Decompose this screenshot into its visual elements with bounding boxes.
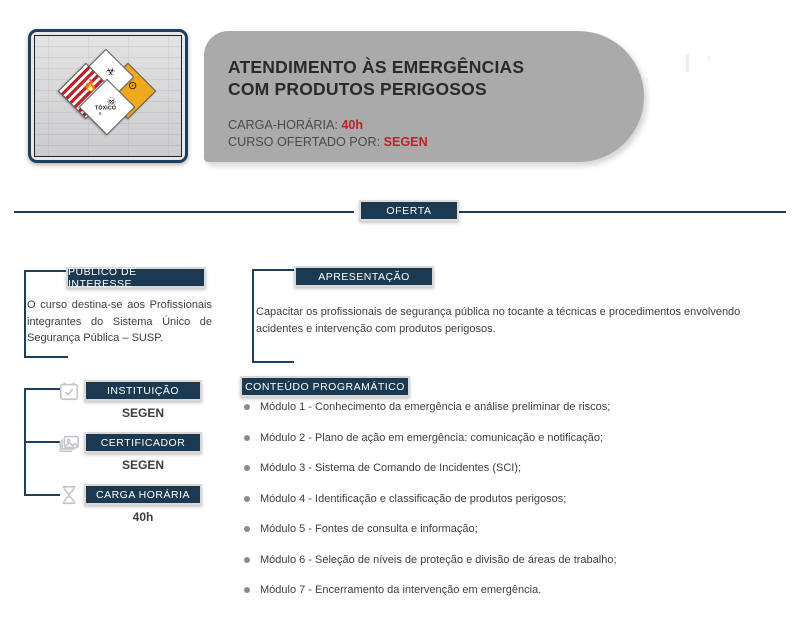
presentation-bracket: [252, 269, 254, 363]
certifier-badge: CERTIFICADOR: [84, 432, 202, 453]
calendar-check-icon: [58, 380, 80, 402]
list-item: Módulo 7 - Encerramento da intervenção e…: [240, 583, 760, 597]
list-item: Módulo 4 - Identificação e classificação…: [240, 492, 760, 506]
certifier-value: SEGEN: [84, 458, 202, 472]
public-bracket-arm-bottom: [24, 356, 68, 358]
course-photo: ☣ ⊙ 🔥 ☠ TÓXICO 6: [28, 29, 188, 163]
public-bracket: [24, 270, 26, 358]
presentation-badge: APRESENTAÇÃO: [294, 266, 434, 287]
hero-panel: ATENDIMENTO ÀS EMERGÊNCIAS COM PRODUTOS …: [204, 31, 644, 162]
hero-meta: CARGA-HORÁRIA: 40h CURSO OFERTADO POR: S…: [228, 117, 428, 151]
list-item: Módulo 1 - Conhecimento da emergência e …: [240, 400, 760, 414]
workload-badge: CARGA HORÁRIA: [84, 484, 202, 505]
hazmat-placards: ☣ ⊙ 🔥 ☠ TÓXICO 6: [60, 57, 156, 135]
syllabus-badge: CONTEÚDO PROGRAMÁTICO: [240, 376, 410, 397]
offered-by-line: CURSO OFERTADO POR: SEGEN: [228, 134, 428, 151]
list-item: Módulo 6 - Seleção de níveis de proteção…: [240, 553, 760, 567]
offered-by-label: CURSO OFERTADO POR:: [228, 135, 380, 149]
list-item: Módulo 3 - Sistema de Comando de Inciden…: [240, 461, 760, 475]
presentation-bracket-arm-bottom: [252, 361, 294, 363]
list-item: Módulo 5 - Fontes de consulta e informaç…: [240, 522, 760, 536]
public-interest-text: O curso destina-se aos Profissionais int…: [27, 297, 212, 347]
hero-section: ☣ ⊙ 🔥 ☠ TÓXICO 6 ATENDIMENTO: [0, 0, 800, 190]
list-item: Módulo 2 - Plano de ação em emergência: …: [240, 431, 760, 445]
right-column: APRESENTAÇÃO Capacitar os profissionais …: [232, 240, 800, 590]
details-bracket-arm-top: [24, 388, 60, 390]
details-bracket-arm-middle: [24, 441, 60, 443]
workload-value: 40h: [341, 118, 363, 132]
hourglass-icon: [58, 484, 80, 506]
public-bracket-arm-top: [24, 270, 68, 272]
presentation-bracket-arm-top: [252, 269, 294, 271]
oferta-badge: OFERTA: [359, 200, 459, 221]
image-stack-icon: [58, 432, 80, 454]
workload-line: CARGA-HORÁRIA: 40h: [228, 117, 428, 134]
presentation-text: Capacitar os profissionais de segurança …: [256, 304, 786, 338]
syllabus-module-list: Módulo 1 - Conhecimento da emergência e …: [240, 400, 760, 614]
divider-rule-left: [14, 211, 354, 213]
course-info-page: ☣ ⊙ 🔥 ☠ TÓXICO 6 ATENDIMENTO: [0, 0, 800, 624]
workload-hours-value: 40h: [84, 510, 202, 524]
offered-by-value: SEGEN: [384, 135, 428, 149]
details-bracket-arm-bottom: [24, 494, 60, 496]
brick-wall-background: ☣ ⊙ 🔥 ☠ TÓXICO 6: [34, 35, 182, 157]
left-column: PÚBLICO DE INTERESSE O curso destina-se …: [0, 240, 232, 570]
workload-label: CARGA-HORÁRIA:: [228, 118, 338, 132]
divider-rule-right: [446, 211, 786, 213]
faint-watermark: [670, 52, 716, 86]
public-interest-badge: PÚBLICO DE INTERESSE: [66, 267, 206, 288]
institution-value: SEGEN: [84, 406, 202, 420]
page-title: ATENDIMENTO ÀS EMERGÊNCIAS COM PRODUTOS …: [228, 56, 568, 100]
institution-badge: INSTITUIÇÃO: [84, 380, 202, 401]
